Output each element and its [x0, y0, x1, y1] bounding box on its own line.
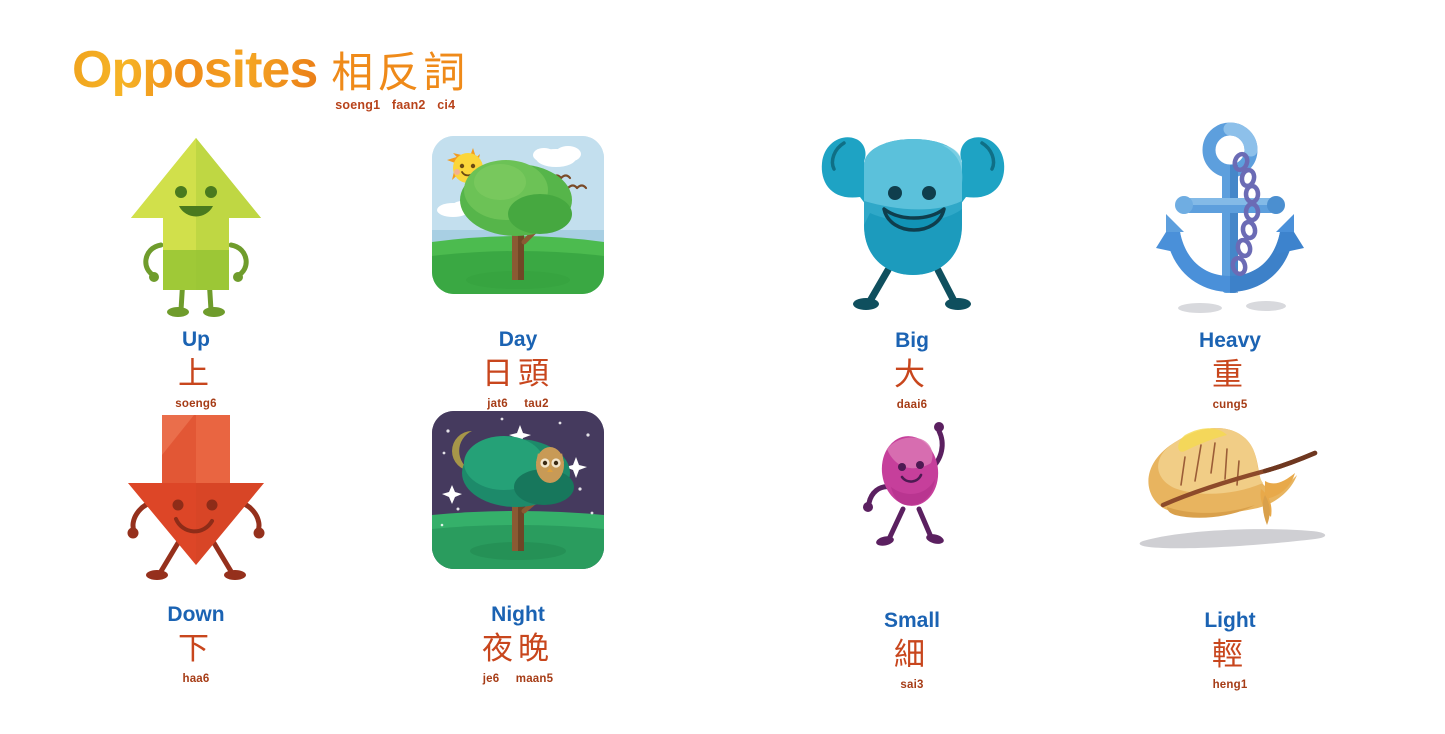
vocabulary-card-day: Day 日頭 jat6 tau2: [388, 130, 648, 410]
romanization-syllable: maan5: [516, 673, 553, 685]
card-label-chinese: 輕: [1100, 638, 1360, 673]
illustration-day-scene: [388, 130, 648, 325]
vocabulary-card-down: Down 下 haa6: [66, 405, 326, 685]
illustration-small-character: [782, 405, 1042, 610]
card-label-romanization: heng1: [1100, 679, 1360, 691]
card-label-english: Heavy: [1100, 330, 1360, 351]
illustration-big-character: [782, 105, 1042, 330]
card-label-english: Light: [1100, 610, 1360, 631]
title-romanization-syllable: ci4: [437, 98, 455, 112]
card-label-chinese: 上: [66, 357, 326, 392]
green-up-arrow-character-icon: [121, 130, 271, 325]
page-title-chinese-group: 相反詞 soeng1 faan2 ci4: [331, 52, 469, 96]
card-label-romanization: sai3: [782, 679, 1042, 691]
illustration-down-arrow-character: [66, 405, 326, 600]
page-title-chinese: 相反詞: [331, 52, 469, 94]
card-label-english: Big: [782, 330, 1042, 351]
vocabulary-card-heavy: Heavy 重 cung5: [1100, 120, 1360, 411]
feather-icon: [1115, 405, 1345, 575]
day-scene-sun-tree-icon: [428, 130, 608, 300]
romanization-syllable: sai3: [900, 679, 923, 691]
card-label-english: Up: [66, 329, 326, 350]
page-title: Opposites 相反詞 soeng1 faan2 ci4: [72, 44, 469, 96]
big-blue-blob-character-icon: [792, 105, 1032, 325]
card-label-english: Small: [782, 610, 1042, 631]
night-scene-moon-owl-tree-icon: [428, 405, 608, 575]
page-title-romanization: soeng1 faan2 ci4: [335, 98, 455, 112]
vocabulary-card-big: Big 大 daai6: [782, 105, 1042, 411]
title-romanization-syllable: soeng1: [335, 98, 380, 112]
anchor-icon: [1140, 120, 1320, 320]
vocabulary-card-small: Small 細 sai3: [782, 405, 1042, 691]
illustration-feather: [1100, 405, 1360, 610]
title-romanization-syllable: faan2: [392, 98, 426, 112]
card-label-chinese: 大: [782, 358, 1042, 393]
romanization-syllable: haa6: [182, 673, 209, 685]
small-pink-blob-character-icon: [847, 405, 977, 585]
romanization-syllable: je6: [483, 673, 500, 685]
romanization-syllable: heng1: [1213, 679, 1248, 691]
card-label-chinese: 細: [782, 638, 1042, 673]
card-label-romanization: je6 maan5: [388, 673, 648, 685]
illustration-night-scene: [388, 405, 648, 600]
vocabulary-card-night: Night 夜晚 je6 maan5: [388, 405, 648, 685]
card-label-chinese: 重: [1100, 358, 1360, 393]
vocabulary-card-up: Up 上 soeng6: [66, 130, 326, 410]
card-label-romanization: haa6: [66, 673, 326, 685]
card-label-chinese: 日頭: [388, 357, 648, 392]
card-label-english: Down: [66, 604, 326, 625]
illustration-up-arrow-character: [66, 130, 326, 325]
red-down-arrow-character-icon: [116, 405, 276, 595]
card-label-english: Night: [388, 604, 648, 625]
vocabulary-card-light: Light 輕 heng1: [1100, 405, 1360, 691]
card-label-chinese: 夜晚: [388, 632, 648, 667]
card-label-english: Day: [388, 329, 648, 350]
page-title-english: Opposites: [72, 44, 317, 96]
illustration-anchor: [1100, 120, 1360, 330]
card-label-chinese: 下: [66, 632, 326, 667]
